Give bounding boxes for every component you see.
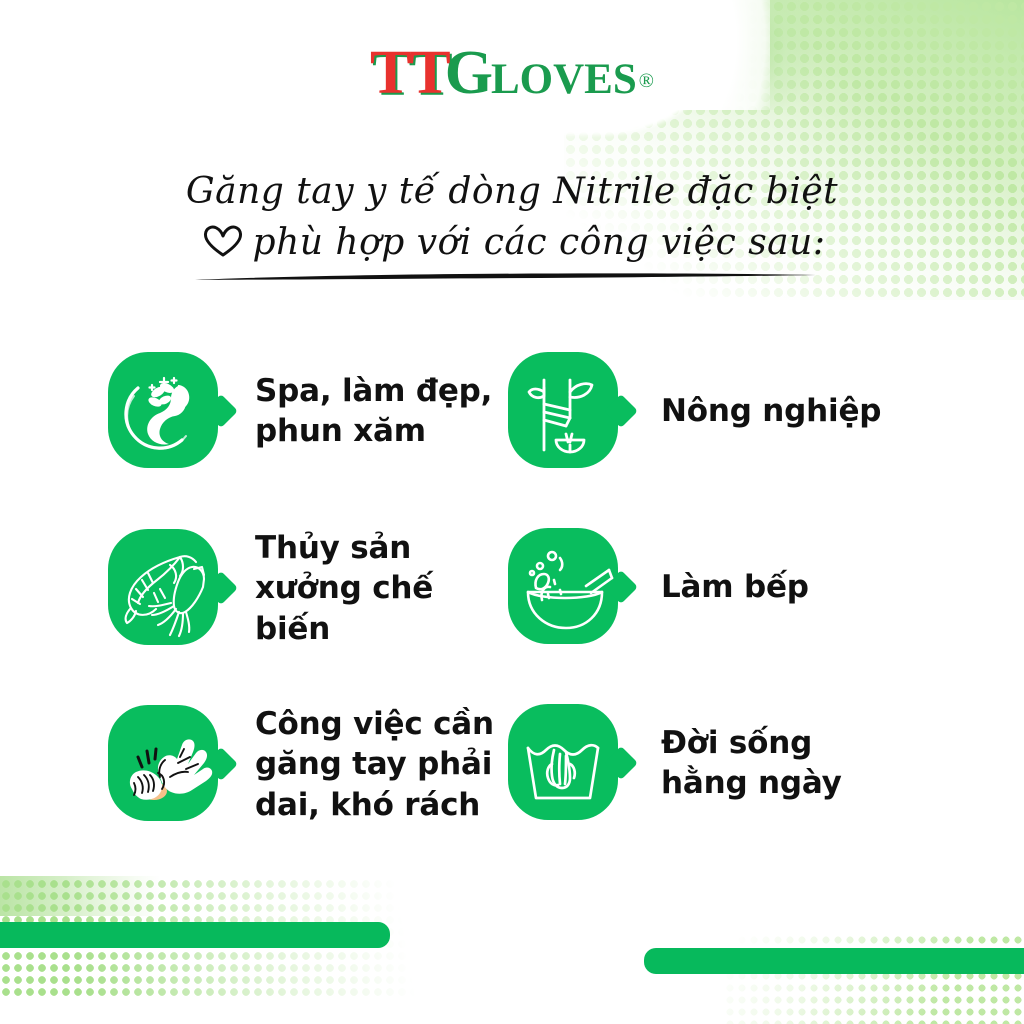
poster-canvas: TTGLOVES® Găng tay y tế dòng Nitrile đặc… xyxy=(0,0,1024,1024)
logo-text-g: G xyxy=(445,39,493,107)
durable-glove-icon xyxy=(108,705,218,821)
headline-block: Găng tay y tế dòng Nitrile đặc biệt phù … xyxy=(0,166,1024,272)
cooking-wok-pan-icon xyxy=(508,528,618,644)
heart-outline-icon xyxy=(203,221,243,272)
handwash-basin-icon xyxy=(508,704,618,820)
benefit-label-agriculture: Nông nghiệp xyxy=(633,391,881,431)
accent-bar-right xyxy=(644,948,1024,974)
benefits-row: Công việc cần găng tay phải dai, khó rác… xyxy=(0,704,1024,880)
logo-text-loves: LOVES xyxy=(491,56,637,103)
benefit-label-cooking: Làm bếp xyxy=(633,567,809,607)
benefit-item-durable-glove[interactable]: Công việc cần găng tay phải dai, khó rác… xyxy=(0,704,500,825)
benefit-label-daily-life: Đời sống hằng ngày xyxy=(633,723,842,804)
seafood-shrimp-squid-icon xyxy=(108,529,218,645)
benefits-row: Spa, làm đẹp, phun xăm xyxy=(0,352,1024,528)
badge-cooking xyxy=(508,528,633,646)
halftone-bottom-left-field xyxy=(0,876,160,916)
benefit-item-agriculture[interactable]: Nông nghiệp xyxy=(500,352,1024,470)
badge-spa xyxy=(108,352,233,470)
headline-line-2-wrap: phù hợp với các công việc sau: xyxy=(199,217,826,272)
brand-logo: TTGLOVES® xyxy=(0,42,1024,104)
benefit-item-seafood[interactable]: Thủy sản xưởng chế biến xyxy=(0,528,500,649)
spa-beauty-face-icon xyxy=(108,352,218,468)
badge-seafood xyxy=(108,529,233,647)
headline-line-2-text: phù hợp với các công việc sau: xyxy=(253,222,826,263)
registered-trademark-icon: ® xyxy=(639,70,654,92)
badge-daily-life xyxy=(508,704,633,822)
benefit-label-spa: Spa, làm đẹp, phun xăm xyxy=(233,371,492,452)
benefit-label-durable-glove: Công việc cần găng tay phải dai, khó rác… xyxy=(233,704,494,825)
benefit-item-daily-life[interactable]: Đời sống hằng ngày xyxy=(500,704,1024,822)
accent-bar-left xyxy=(0,922,390,948)
agriculture-shovel-sprout-icon xyxy=(508,352,618,468)
benefits-grid: Spa, làm đẹp, phun xăm xyxy=(0,352,1024,880)
benefit-item-cooking[interactable]: Làm bếp xyxy=(500,528,1024,646)
badge-durable-glove xyxy=(108,705,233,823)
headline-line-1: Găng tay y tế dòng Nitrile đặc biệt xyxy=(0,166,1024,217)
benefits-row: Thủy sản xưởng chế biến xyxy=(0,528,1024,704)
badge-agriculture xyxy=(508,352,633,470)
headline-underline-stroke xyxy=(193,269,820,283)
halftone-bottom-right-fade xyxy=(704,924,1024,1024)
benefit-item-spa[interactable]: Spa, làm đẹp, phun xăm xyxy=(0,352,500,470)
logo-text-tt: TT xyxy=(370,39,449,107)
benefit-label-seafood: Thủy sản xưởng chế biến xyxy=(233,528,500,649)
